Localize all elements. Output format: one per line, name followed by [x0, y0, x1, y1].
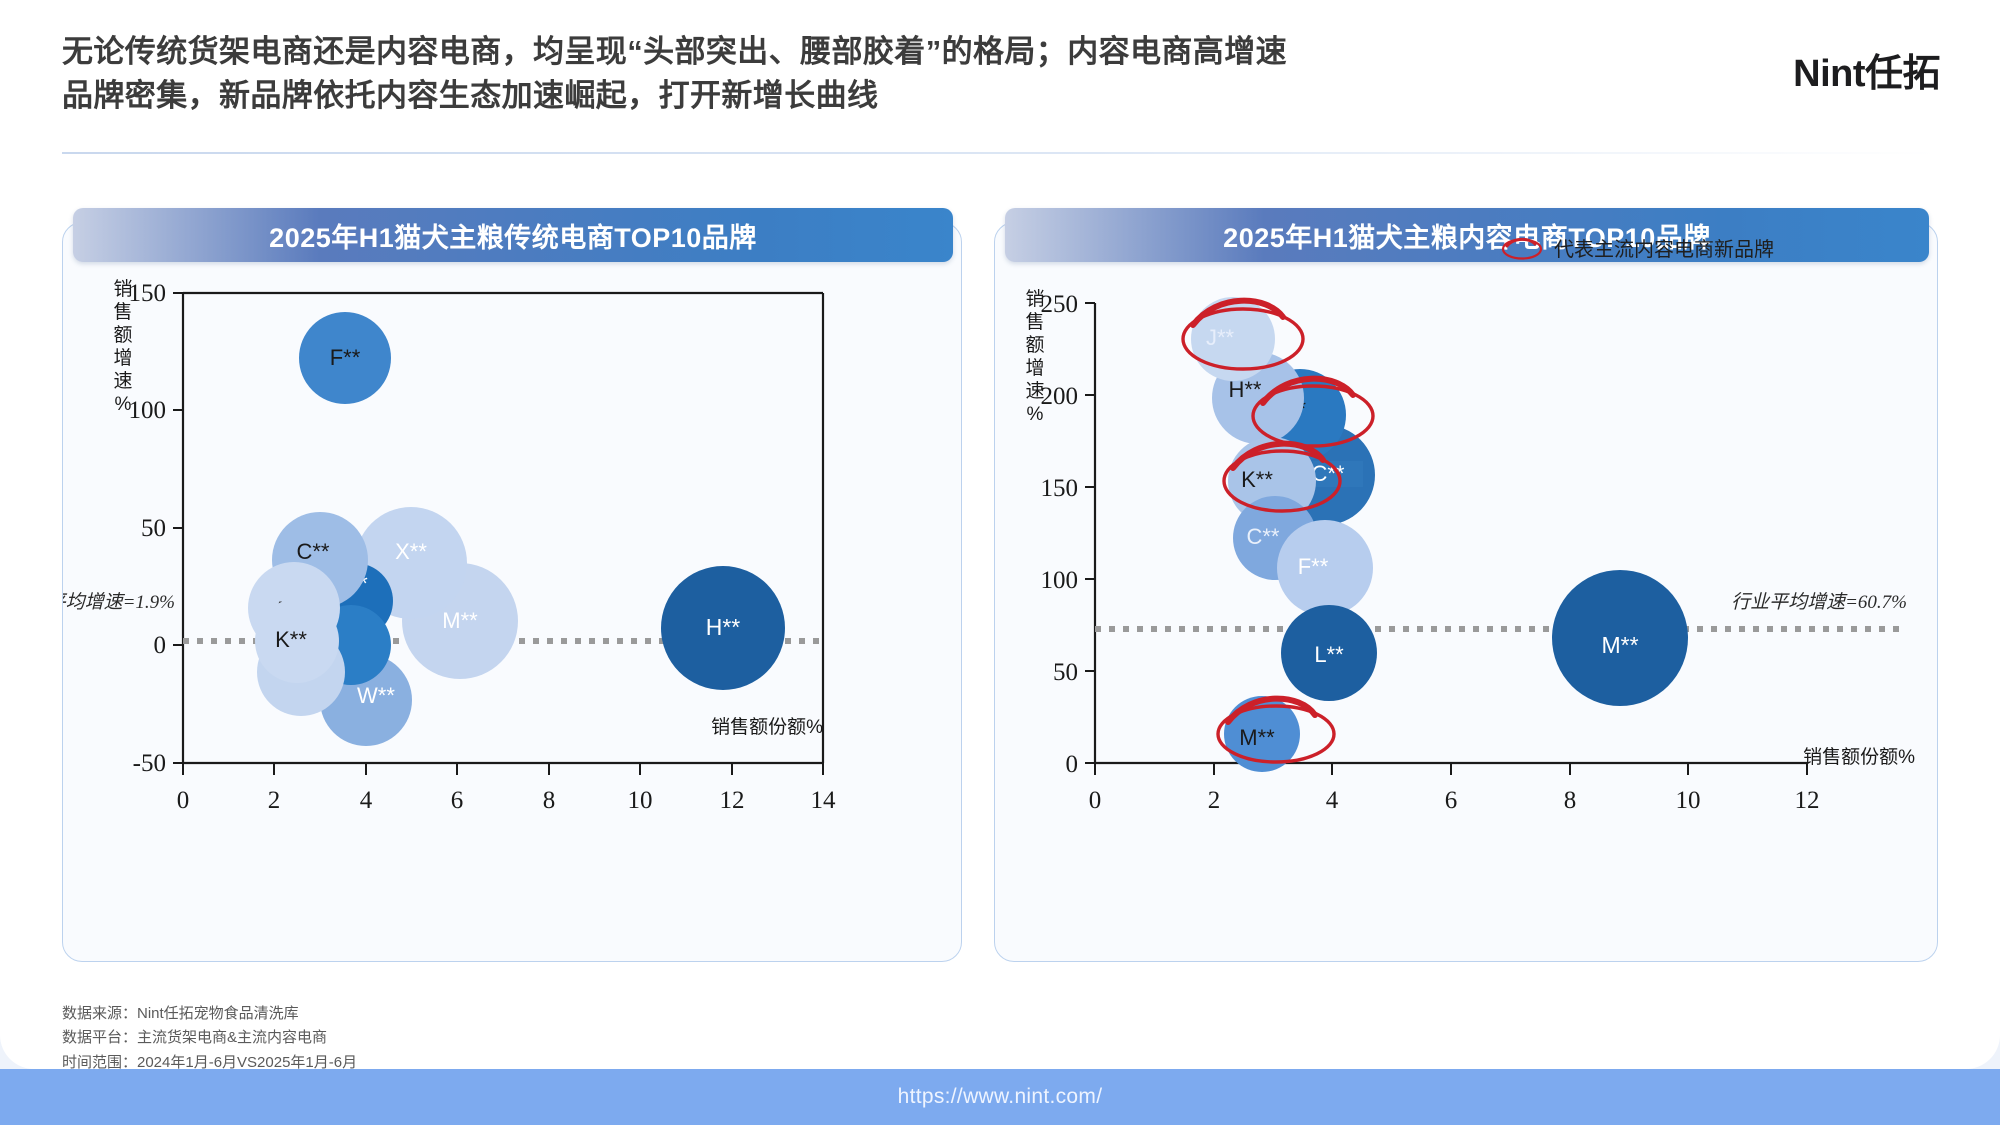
x-tick-label: 4: [360, 787, 373, 814]
y-axis-title-char: 增: [1025, 357, 1044, 379]
headline-line-1: 无论传统货架电商还是内容电商，均呈现“头部突出、腰部胶着”的格局；内容电商高增速: [62, 30, 1762, 74]
y-ticks-left: 150 100 50 0 -50: [129, 280, 184, 777]
y-tick-label: 0: [154, 632, 167, 659]
bubble-label: H**: [706, 614, 741, 640]
x-axis-title-right: 销售额份额%: [1803, 746, 1915, 768]
page-title: 无论传统货架电商还是内容电商，均呈现“头部突出、腰部胶着”的格局；内容电商高增速…: [62, 30, 1762, 118]
chart-card-content: 2025年H1猫犬主粮内容电商TOP10品牌 代表主流内容电商新品牌: [994, 222, 1938, 962]
slide-background: 无论传统货架电商还是内容电商，均呈现“头部突出、腰部胶着”的格局；内容电商高增速…: [0, 0, 2000, 1125]
industry-average-label-right: 行业平均增速=60.7%: [1731, 592, 1907, 613]
chart-title-bar-content: 2025年H1猫犬主粮内容电商TOP10品牌: [1005, 208, 1929, 262]
bubble-series-left: F** H** M** X**: [248, 312, 785, 746]
y-axis-title-char: 售: [113, 301, 132, 323]
x-tick-label: 8: [543, 787, 556, 814]
y-tick-label: 150: [1041, 475, 1079, 502]
bubble-k[interactable]: K**: [255, 599, 339, 683]
x-axis-title-left: 销售额份额%: [711, 716, 823, 738]
y-tick-label: 200: [1041, 383, 1079, 410]
x-tick-label: 2: [1208, 787, 1221, 814]
y-axis-title-char: 速: [113, 370, 132, 392]
header-divider: [62, 152, 1938, 154]
x-tick-label: 14: [811, 787, 837, 814]
x-tick-label: 12: [720, 787, 745, 814]
x-tick-label: 8: [1564, 787, 1577, 814]
chart-title-bar-traditional: 2025年H1猫犬主粮传统电商TOP10品牌: [73, 208, 953, 262]
bubble-label: K**: [1241, 467, 1273, 492]
y-axis-title-char: 额: [113, 324, 132, 346]
bubble-label: W**: [357, 683, 395, 708]
y-axis-title-char: 销: [1025, 288, 1044, 310]
y-axis-title-char: 销: [113, 278, 132, 300]
x-tick-label: 0: [1089, 787, 1102, 814]
x-tick-label: 0: [177, 787, 190, 814]
x-tick-label: 4: [1326, 787, 1339, 814]
x-ticks-left: 0 2 4 6 8 10 12 14: [177, 763, 836, 814]
y-tick-label: 50: [141, 515, 166, 542]
y-tick-label: 150: [129, 280, 167, 307]
bubble-label: M**: [1601, 632, 1638, 658]
url-bar: https://www.nint.com/: [0, 1069, 2000, 1125]
bubble-label: F**: [1298, 554, 1329, 579]
y-tick-label: -50: [133, 750, 166, 777]
slide-header: 无论传统货架电商还是内容电商，均呈现“头部突出、腰部胶着”的格局；内容电商高增速…: [62, 30, 1940, 140]
scatter-plot-traditional: 150 100 50 0 -50 0 2: [63, 263, 963, 963]
footnote-platform: 数据平台：主流货架电商&主流内容电商: [62, 1026, 357, 1050]
y-tick-label: 50: [1053, 659, 1078, 686]
industry-average-label-left: 行业平均增速=1.9%: [63, 592, 175, 613]
bubble-l[interactable]: L**: [1281, 605, 1377, 701]
bubble-h[interactable]: H**: [661, 566, 785, 690]
bubble-label: M**: [442, 608, 478, 633]
y-axis-title-char: %: [115, 394, 132, 415]
y-axis-title-char: 售: [1025, 311, 1044, 333]
x-tick-label: 10: [628, 787, 653, 814]
legend: 代表主流内容电商新品牌: [1500, 233, 1774, 262]
x-tick-label: 12: [1795, 787, 1820, 814]
headline-line-2: 品牌密集，新品牌依托内容生态加速崛起，打开新增长曲线: [62, 74, 1762, 118]
chart-card-traditional: 2025年H1猫犬主粮传统电商TOP10品牌 150 100 50: [62, 222, 962, 962]
y-axis-title-char: 增: [113, 347, 132, 369]
y-ticks-right: 250 200 150 100 50 0: [1041, 291, 1096, 778]
x-tick-label: 2: [268, 787, 281, 814]
bubble-label: C**: [1246, 524, 1279, 549]
chart-title-traditional: 2025年H1猫犬主粮传统电商TOP10品牌: [269, 216, 757, 255]
x-tick-label: 6: [1445, 787, 1458, 814]
nint-logo: Nint任拓: [1793, 42, 1940, 97]
bubble-label: M**: [1239, 725, 1275, 750]
scatter-plot-content: 250 200 150 100 50 0 0 2: [995, 263, 1939, 963]
bubble-label: C**: [296, 539, 329, 564]
y-tick-label: 100: [129, 397, 167, 424]
y-tick-label: 100: [1041, 567, 1079, 594]
y-axis-title-char: %: [1027, 404, 1044, 425]
y-axis-title-left: 销 售 额 增 速 %: [113, 278, 132, 415]
x-ticks-right: 0 2 4 6 8 10 12: [1089, 763, 1820, 814]
legend-label: 代表主流内容电商新品牌: [1554, 233, 1774, 262]
y-axis-title-char: 额: [1025, 334, 1044, 356]
bubble-label: L**: [1314, 642, 1344, 667]
bubble-label: K**: [275, 627, 307, 652]
bubble-f[interactable]: F**: [1277, 520, 1373, 616]
y-tick-label: 250: [1041, 291, 1079, 318]
footnotes: 数据来源：Nint任拓宠物食品清洗库 数据平台：主流货架电商&主流内容电商 时间…: [62, 1002, 357, 1075]
y-axis-title-right: 销 售 额 增 速 %: [1025, 288, 1044, 425]
bubble-label: X**: [395, 539, 427, 564]
y-axis-title-char: 速: [1025, 380, 1044, 402]
y-tick-label: 0: [1066, 751, 1079, 778]
bubble-label: F**: [330, 345, 361, 370]
bubble-m-big[interactable]: M**: [1552, 570, 1688, 706]
bubble-f[interactable]: F**: [299, 312, 391, 404]
website-url[interactable]: https://www.nint.com/: [898, 1085, 1103, 1109]
x-tick-label: 10: [1676, 787, 1701, 814]
footnote-source: 数据来源：Nint任拓宠物食品清洗库: [62, 1002, 357, 1026]
x-tick-label: 6: [451, 787, 464, 814]
bubble-label: J**: [1206, 325, 1235, 350]
red-ellipse-icon: [1500, 235, 1544, 261]
